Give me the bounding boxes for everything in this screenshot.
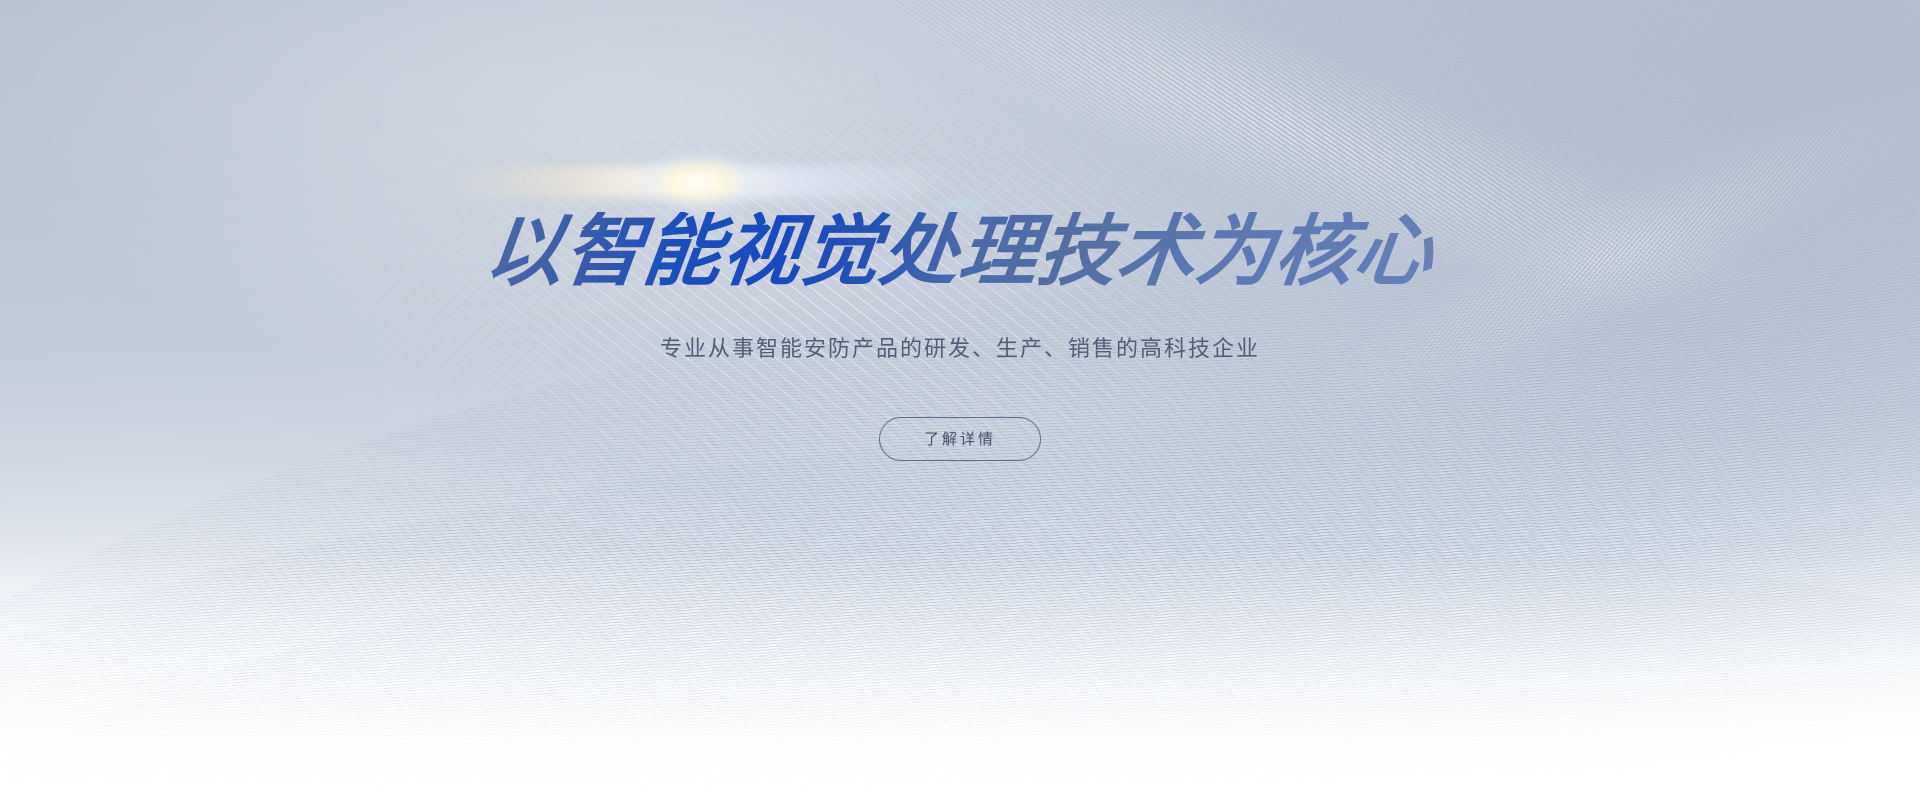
hero-banner: 以智能视觉处理技术为核心 专业从事智能安防产品的研发、生产、销售的高科技企业 了… [0,0,1920,800]
hero-content: 以智能视觉处理技术为核心 专业从事智能安防产品的研发、生产、销售的高科技企业 了… [0,0,1920,461]
wave-ribbon-4 [0,498,1920,800]
learn-more-button[interactable]: 了解详情 [879,417,1041,461]
hero-subtitle: 专业从事智能安防产品的研发、生产、销售的高科技企业 [660,334,1260,365]
page-title: 以智能视觉处理技术为核心 [481,212,1439,290]
bottom-white-fade [0,550,1920,800]
